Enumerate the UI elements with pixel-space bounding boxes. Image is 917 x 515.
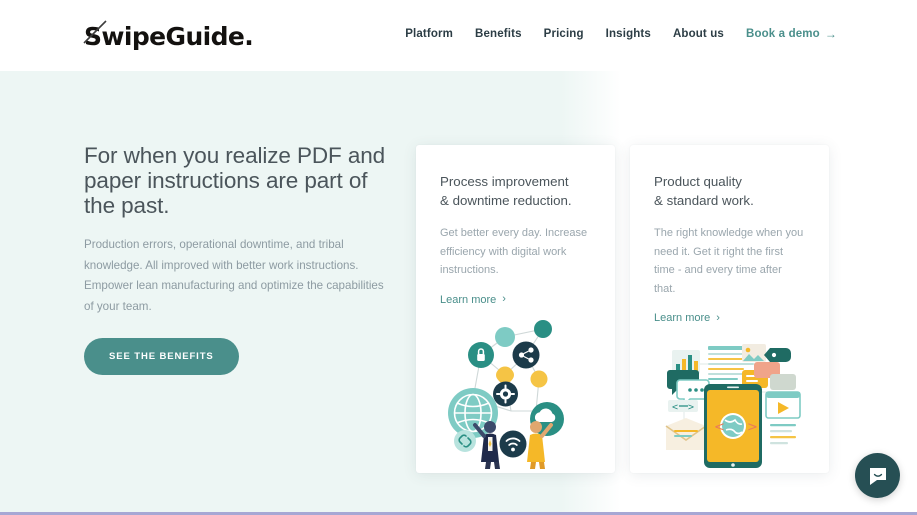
hero-description: Production errors, operational downtime,… [84, 235, 384, 317]
code-brackets-icon: < > [668, 400, 698, 413]
person-figure-navy [475, 421, 500, 469]
dot-node [495, 327, 515, 347]
dot-node [534, 320, 552, 338]
feature-card-process-improvement[interactable]: Process improvement & downtime reduction… [416, 145, 615, 473]
svg-text:>: > [747, 420, 758, 435]
learn-more-link-process-improvement[interactable]: Learn more › [440, 294, 506, 306]
feature-card-body: Process improvement & downtime reduction… [416, 145, 615, 308]
chat-launcher-button[interactable] [855, 453, 900, 498]
link-icon [454, 430, 476, 452]
video-player-icon [766, 392, 800, 418]
chat-bubbles-icon [667, 370, 709, 405]
brand-logo-text: SwipeGuide. [84, 22, 253, 51]
learn-more-link-product-quality[interactable]: Learn more › [654, 312, 720, 324]
feature-card-description: Get better every day. Increase efficienc… [440, 224, 591, 280]
chat-bubble-icon [867, 465, 889, 487]
share-icon [513, 342, 540, 369]
chat-bubble-icon [496, 368, 514, 383]
tablet-device: < > [704, 384, 762, 468]
nav-book-a-demo-label: Book a demo [746, 28, 820, 40]
nav-item-pricing[interactable]: Pricing [544, 28, 584, 40]
text-lines-right [770, 424, 796, 444]
nav-item-benefits[interactable]: Benefits [475, 28, 522, 40]
tag-icon [764, 348, 791, 362]
nav-item-about-us[interactable]: About us [673, 28, 724, 40]
see-the-benefits-button[interactable]: SEE THE BENEFITS [84, 338, 239, 375]
tablet-content-illustration: < > [630, 334, 829, 469]
learn-more-label: Learn more [440, 294, 496, 306]
person-figure-yellow [527, 421, 551, 469]
site-header: SwipeGuide. Platform Benefits Pricing In… [0, 0, 917, 71]
feature-card-product-quality[interactable]: Product quality & standard work. The rig… [630, 145, 829, 473]
brand-logo[interactable]: SwipeGuide. [84, 22, 253, 52]
nav-item-platform[interactable]: Platform [405, 28, 453, 40]
svg-text:<: < [714, 420, 725, 435]
feature-card-description: The right knowledge when you need it. Ge… [654, 224, 805, 298]
feature-card-body: Product quality & standard work. The rig… [630, 145, 829, 326]
page-root: SwipeGuide. Platform Benefits Pricing In… [0, 0, 917, 515]
gray-bubble-icon [770, 374, 796, 390]
hero-content: For when you realize PDF and paper instr… [84, 143, 389, 375]
feature-card-title: Product quality & standard work. [654, 173, 805, 210]
svg-text:>: > [688, 402, 694, 413]
arrow-right-icon: → [825, 28, 837, 40]
feature-card-title: Process improvement & downtime reduction… [440, 173, 591, 210]
chevron-right-icon: › [502, 294, 506, 305]
svg-text:<: < [672, 402, 678, 413]
dot-node [531, 371, 548, 388]
envelope-icon [666, 418, 706, 450]
primary-navigation: Platform Benefits Pricing Insights About… [405, 28, 837, 40]
network-collaboration-illustration [416, 319, 615, 469]
nav-book-a-demo-link[interactable]: Book a demo → [746, 28, 837, 40]
learn-more-label: Learn more [654, 312, 710, 324]
chevron-right-icon: › [716, 313, 720, 324]
nav-item-insights[interactable]: Insights [606, 28, 651, 40]
image-thumbnail-icon [742, 344, 766, 362]
page-title: For when you realize PDF and paper instr… [84, 143, 389, 218]
